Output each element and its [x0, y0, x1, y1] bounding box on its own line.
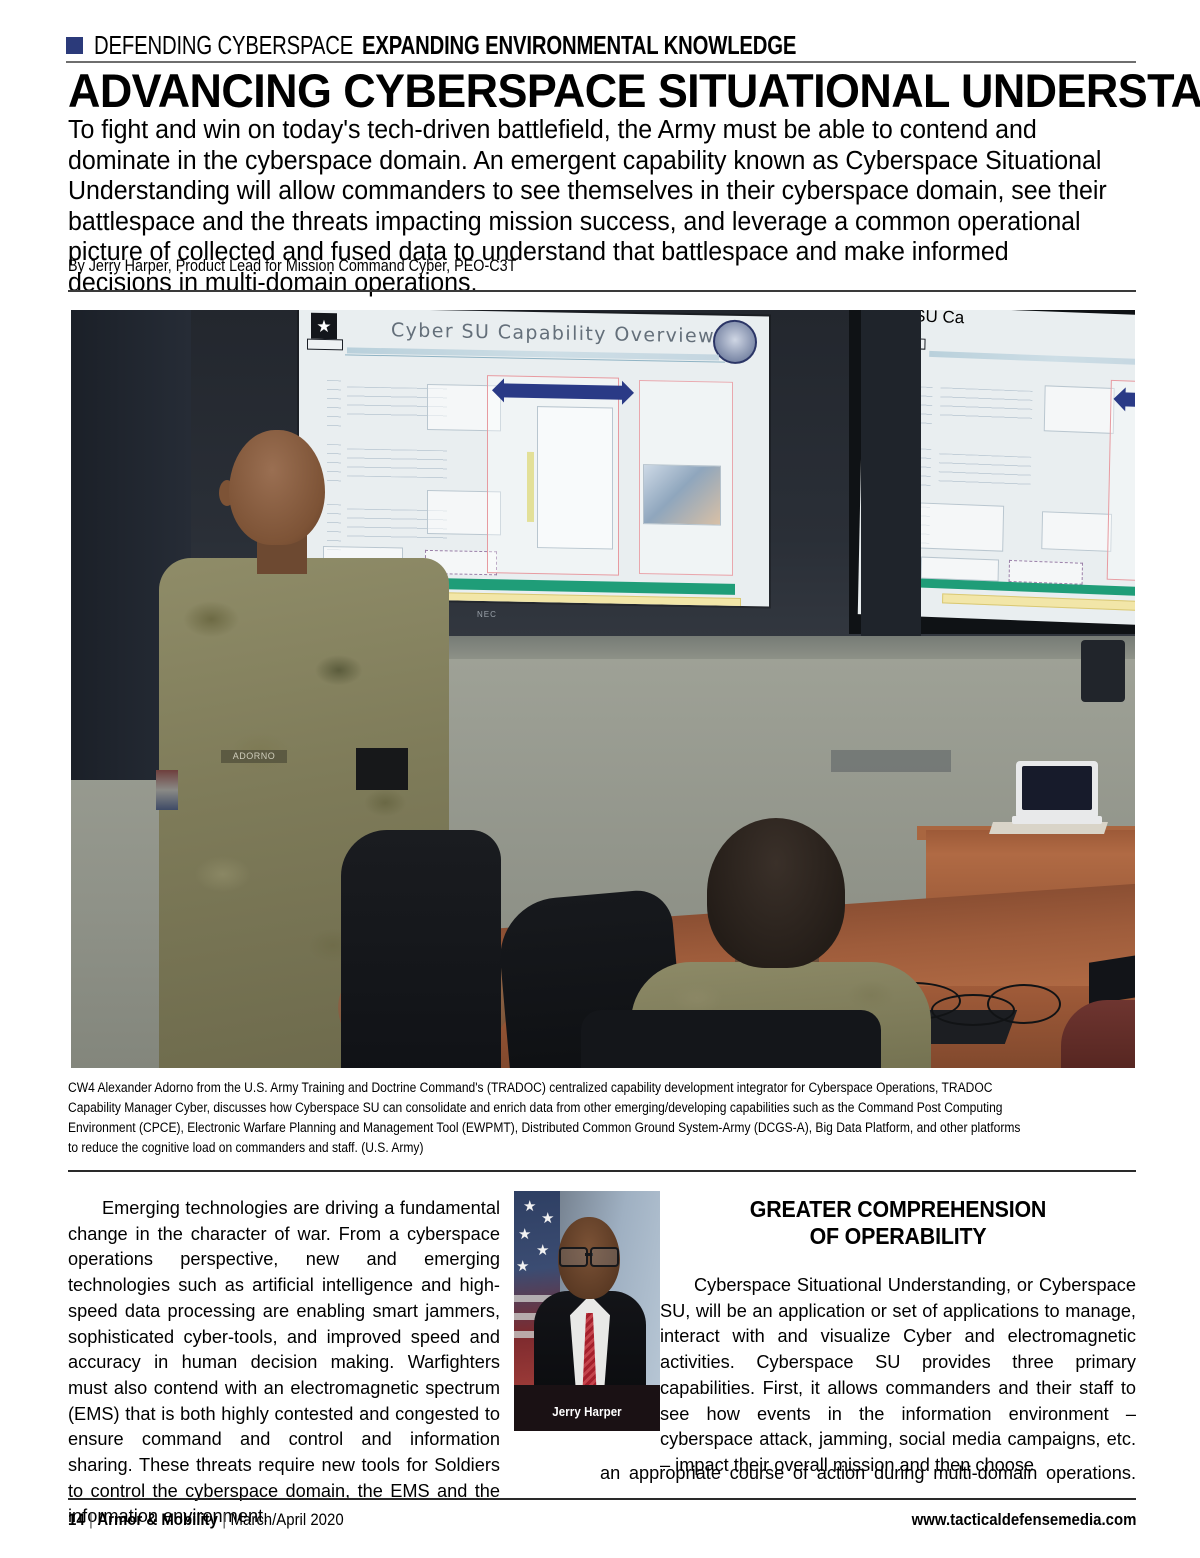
right-column-body: Cyberspace Situational Understanding, or… [660, 1273, 1136, 1479]
speaker-chest-patch [356, 748, 408, 790]
footer-rule [68, 1498, 1136, 1500]
slide2-yellow-footnote [942, 593, 1135, 611]
slide2-box-3 [919, 503, 1004, 552]
photo-caption: CW4 Alexander Adorno from the U.S. Army … [68, 1078, 1029, 1158]
right-paragraph: Cyberspace Situational Understanding, or… [660, 1273, 1136, 1479]
slide-subtitle-band-2 [929, 351, 1135, 366]
slide2-box-dashed [1009, 560, 1083, 585]
office-chair-3 [581, 1010, 881, 1068]
slide2-box-2 [1041, 511, 1112, 552]
slide2-arrow-icon [1124, 392, 1135, 408]
speaker-nametape: ADORNO [221, 750, 287, 763]
flag-star-icon-1: ★ [523, 1199, 536, 1214]
page-number: 14 [68, 1510, 85, 1529]
byline: By Jerry Harper, Product Lead for Missio… [68, 257, 516, 276]
slide2-box-1 [1044, 385, 1115, 434]
section-heading-line2: OF OPERABILITY [677, 1223, 1120, 1250]
slide2-text-2 [939, 453, 1032, 487]
flag-star-icon-5: ★ [516, 1259, 529, 1274]
kicker-section-light: DEFENDING CYBERSPACE [94, 30, 353, 61]
army-logo-tab [307, 339, 343, 351]
kicker: DEFENDING CYBERSPACE EXPANDING ENVIRONME… [66, 30, 1136, 60]
footer-separator-2: | [218, 1510, 231, 1529]
kicker-rule [66, 61, 1136, 63]
flag-star-icon-3: ★ [518, 1227, 531, 1242]
slide-text-block-2 [347, 448, 447, 478]
slide2-box-4 [921, 557, 999, 582]
author-portrait: ★ ★ ★ ★ ★ Jerry Harper [514, 1191, 660, 1431]
screen2-edge-shadow [861, 310, 921, 636]
laptop-screen [1022, 766, 1092, 810]
body-column-left: Emerging technologies are driving a fund… [68, 1196, 500, 1530]
magazine-page: DEFENDING CYBERSPACE EXPANDING ENVIRONME… [0, 0, 1200, 1558]
issue-date: March/April 2020 [231, 1510, 344, 1529]
publication-name: Armor & Mobility [97, 1510, 218, 1529]
section-heading-line1: GREATER COMPREHENSION [677, 1196, 1120, 1223]
secondary-monitor [1089, 953, 1135, 1005]
office-chair-1 [341, 830, 501, 1068]
slide-inner-box [537, 406, 613, 549]
right-paragraph-last-line: an appropriate course of action during m… [600, 1461, 1136, 1487]
slide2-text-1 [940, 387, 1033, 423]
seated-soldier-head [707, 818, 845, 968]
portrait-name: Jerry Harper [520, 1405, 654, 1419]
unit-seal-icon [713, 319, 757, 364]
army-star-icon: ★ [311, 313, 337, 339]
kicker-section-bold: EXPANDING ENVIRONMENTAL KNOWLEDGE [362, 30, 796, 61]
slide-arrow-icon [503, 383, 623, 399]
footer-separator-1: | [85, 1510, 98, 1529]
slide-title: Cyber SU Capability Overview [391, 319, 715, 347]
slide-axis-label-2 [327, 444, 341, 486]
projector-brand-label: NEC [477, 610, 497, 619]
flag-star-icon-2: ★ [541, 1211, 554, 1226]
body-column-right: GREATER COMPREHENSION OF OPERABILITY Cyb… [660, 1196, 1136, 1479]
footer-left: 14|Armor & Mobility|March/April 2020 [68, 1510, 344, 1530]
byline-rule [68, 290, 1136, 292]
flag-star-icon-4: ★ [536, 1243, 549, 1258]
laptop-base [1012, 816, 1102, 824]
caption-rule [68, 1170, 1136, 1172]
main-photo: ★ Cyber SU Capability Overview [71, 310, 1135, 1068]
wall-speaker [1081, 640, 1125, 702]
us-flag-patch-icon [156, 770, 178, 810]
slide-inset-photo [643, 464, 721, 525]
kicker-bullet-icon [66, 37, 83, 54]
wall-vent [831, 750, 951, 772]
slide-axis-label-3 [327, 504, 341, 550]
slide-vertical-highlight [527, 452, 534, 522]
footer-website[interactable]: www.tacticaldefensemedia.com [911, 1510, 1136, 1530]
speaker-head [229, 430, 325, 545]
page-title: ADVANCING CYBERSPACE SITUATIONAL UNDERST… [68, 65, 1109, 117]
left-paragraph: Emerging technologies are driving a fund… [68, 1196, 500, 1530]
eyeglasses-icon [558, 1247, 620, 1264]
section-heading: GREATER COMPREHENSION OF OPERABILITY [677, 1196, 1120, 1250]
slide-axis-label-1 [327, 380, 341, 428]
